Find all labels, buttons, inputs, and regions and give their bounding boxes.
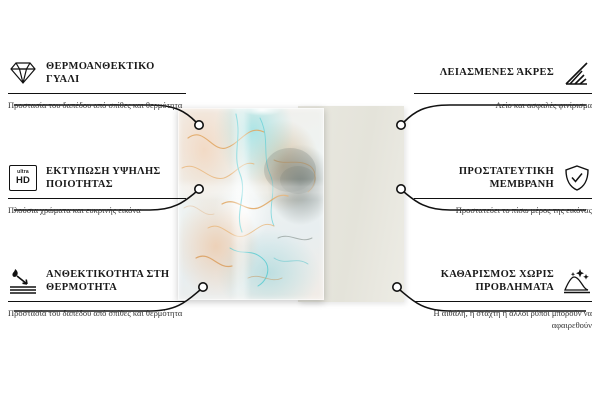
feature-header: ΠΡΟΣΤΑΤΕΥΤΙΚΗ ΜΕΜΒΡΑΝΗ [414, 163, 592, 193]
glass-panel [178, 108, 324, 300]
feature-protective-membrane: ΠΡΟΣΤΑΤΕΥΤΙΚΗ ΜΕΜΒΡΑΝΗ Προστατεύει το πί… [414, 163, 592, 216]
feature-header: ultra HD ΕΚΤΥΠΩΣΗ ΥΨΗΛΗΣ ΠΟΙΟΤΗΤΑΣ [8, 163, 186, 193]
feature-heat-durability: ΑΝΘΕΚΤΙΚΟΤΗΤΑ ΣΤΗ ΘΕΡΜΟΤΗΤΑ Προστασία το… [8, 266, 186, 319]
feature-polished-edges: ΛΕΙΑΣΜΕΝΕΣ ΆΚΡΕΣ Λείο και ασφαλές φινίρι… [414, 58, 592, 111]
feature-title: ΠΡΟΣΤΑΤΕΥΤΙΚΗ ΜΕΜΒΡΑΝΗ [414, 165, 554, 191]
infographic-stage: ΘΕΡΜΟΑΝΘΕΚΤΙΚΟ ΓΥΑΛΙ Προστασία του δαπέδ… [0, 0, 600, 400]
divider [414, 93, 592, 94]
feature-high-quality-print: ultra HD ΕΚΤΥΠΩΣΗ ΥΨΗΛΗΣ ΠΟΙΟΤΗΤΑΣ Πλούσ… [8, 163, 186, 216]
divider [8, 301, 186, 302]
diamond-icon [8, 58, 38, 88]
shield-check-icon [562, 163, 592, 193]
marble-veins [178, 108, 324, 300]
feature-description: Πλούσια χρώματα και ευκρινής εικόνα [8, 204, 186, 216]
feature-title: ΕΚΤΥΠΩΣΗ ΥΨΗΛΗΣ ΠΟΙΟΤΗΤΑΣ [46, 165, 186, 191]
feature-description: Προστατεύει το πίσω μέρος της εικόνας [414, 204, 592, 216]
hatched-edge-icon [562, 58, 592, 88]
feature-title: ΑΝΘΕΚΤΙΚΟΤΗΤΑ ΣΤΗ ΘΕΡΜΟΤΗΤΑ [46, 268, 186, 294]
feature-header: ΛΕΙΑΣΜΕΝΕΣ ΆΚΡΕΣ [414, 58, 592, 88]
product-image [178, 108, 400, 300]
divider [414, 198, 592, 199]
feature-header: ΚΑΘΑΡΙΣΜΟΣ ΧΩΡΙΣ ΠΡΟΒΛΗΜΑΤΑ [414, 266, 592, 296]
feature-description: Η αιθάλη, η στάχτη ή άλλοι ρύποι μπορούν… [414, 307, 592, 332]
feature-easy-cleaning: ΚΑΘΑΡΙΣΜΟΣ ΧΩΡΙΣ ΠΡΟΒΛΗΜΑΤΑ Η αιθάλη, η … [414, 266, 592, 332]
hd-label: HD [16, 176, 30, 186]
divider [414, 301, 592, 302]
feature-description: Προστασία του δαπέδου από σπίθες και θερ… [8, 99, 186, 111]
feature-title: ΛΕΙΑΣΜΕΝΕΣ ΆΚΡΕΣ [440, 66, 554, 79]
divider [8, 198, 186, 199]
feature-heat-resistant-glass: ΘΕΡΜΟΑΝΘΕΚΤΙΚΟ ΓΥΑΛΙ Προστασία του δαπέδ… [8, 58, 186, 111]
divider [8, 93, 186, 94]
sponge-sparkle-icon [562, 266, 592, 296]
feature-title: ΘΕΡΜΟΑΝΘΕΚΤΙΚΟ ΓΥΑΛΙ [46, 60, 186, 86]
feature-description: Λείο και ασφαλές φινίρισμα [414, 99, 592, 111]
feature-title: ΚΑΘΑΡΙΣΜΟΣ ΧΩΡΙΣ ΠΡΟΒΛΗΜΑΤΑ [414, 268, 554, 294]
ultra-hd-badge-icon: ultra HD [8, 163, 38, 193]
feature-header: ΑΝΘΕΚΤΙΚΟΤΗΤΑ ΣΤΗ ΘΕΡΜΟΤΗΤΑ [8, 266, 186, 296]
flame-deflect-icon [8, 266, 38, 296]
feature-header: ΘΕΡΜΟΑΝΘΕΚΤΙΚΟ ΓΥΑΛΙ [8, 58, 186, 88]
feature-description: Προστασία του δαπέδου από σπίθες και θερ… [8, 307, 186, 319]
